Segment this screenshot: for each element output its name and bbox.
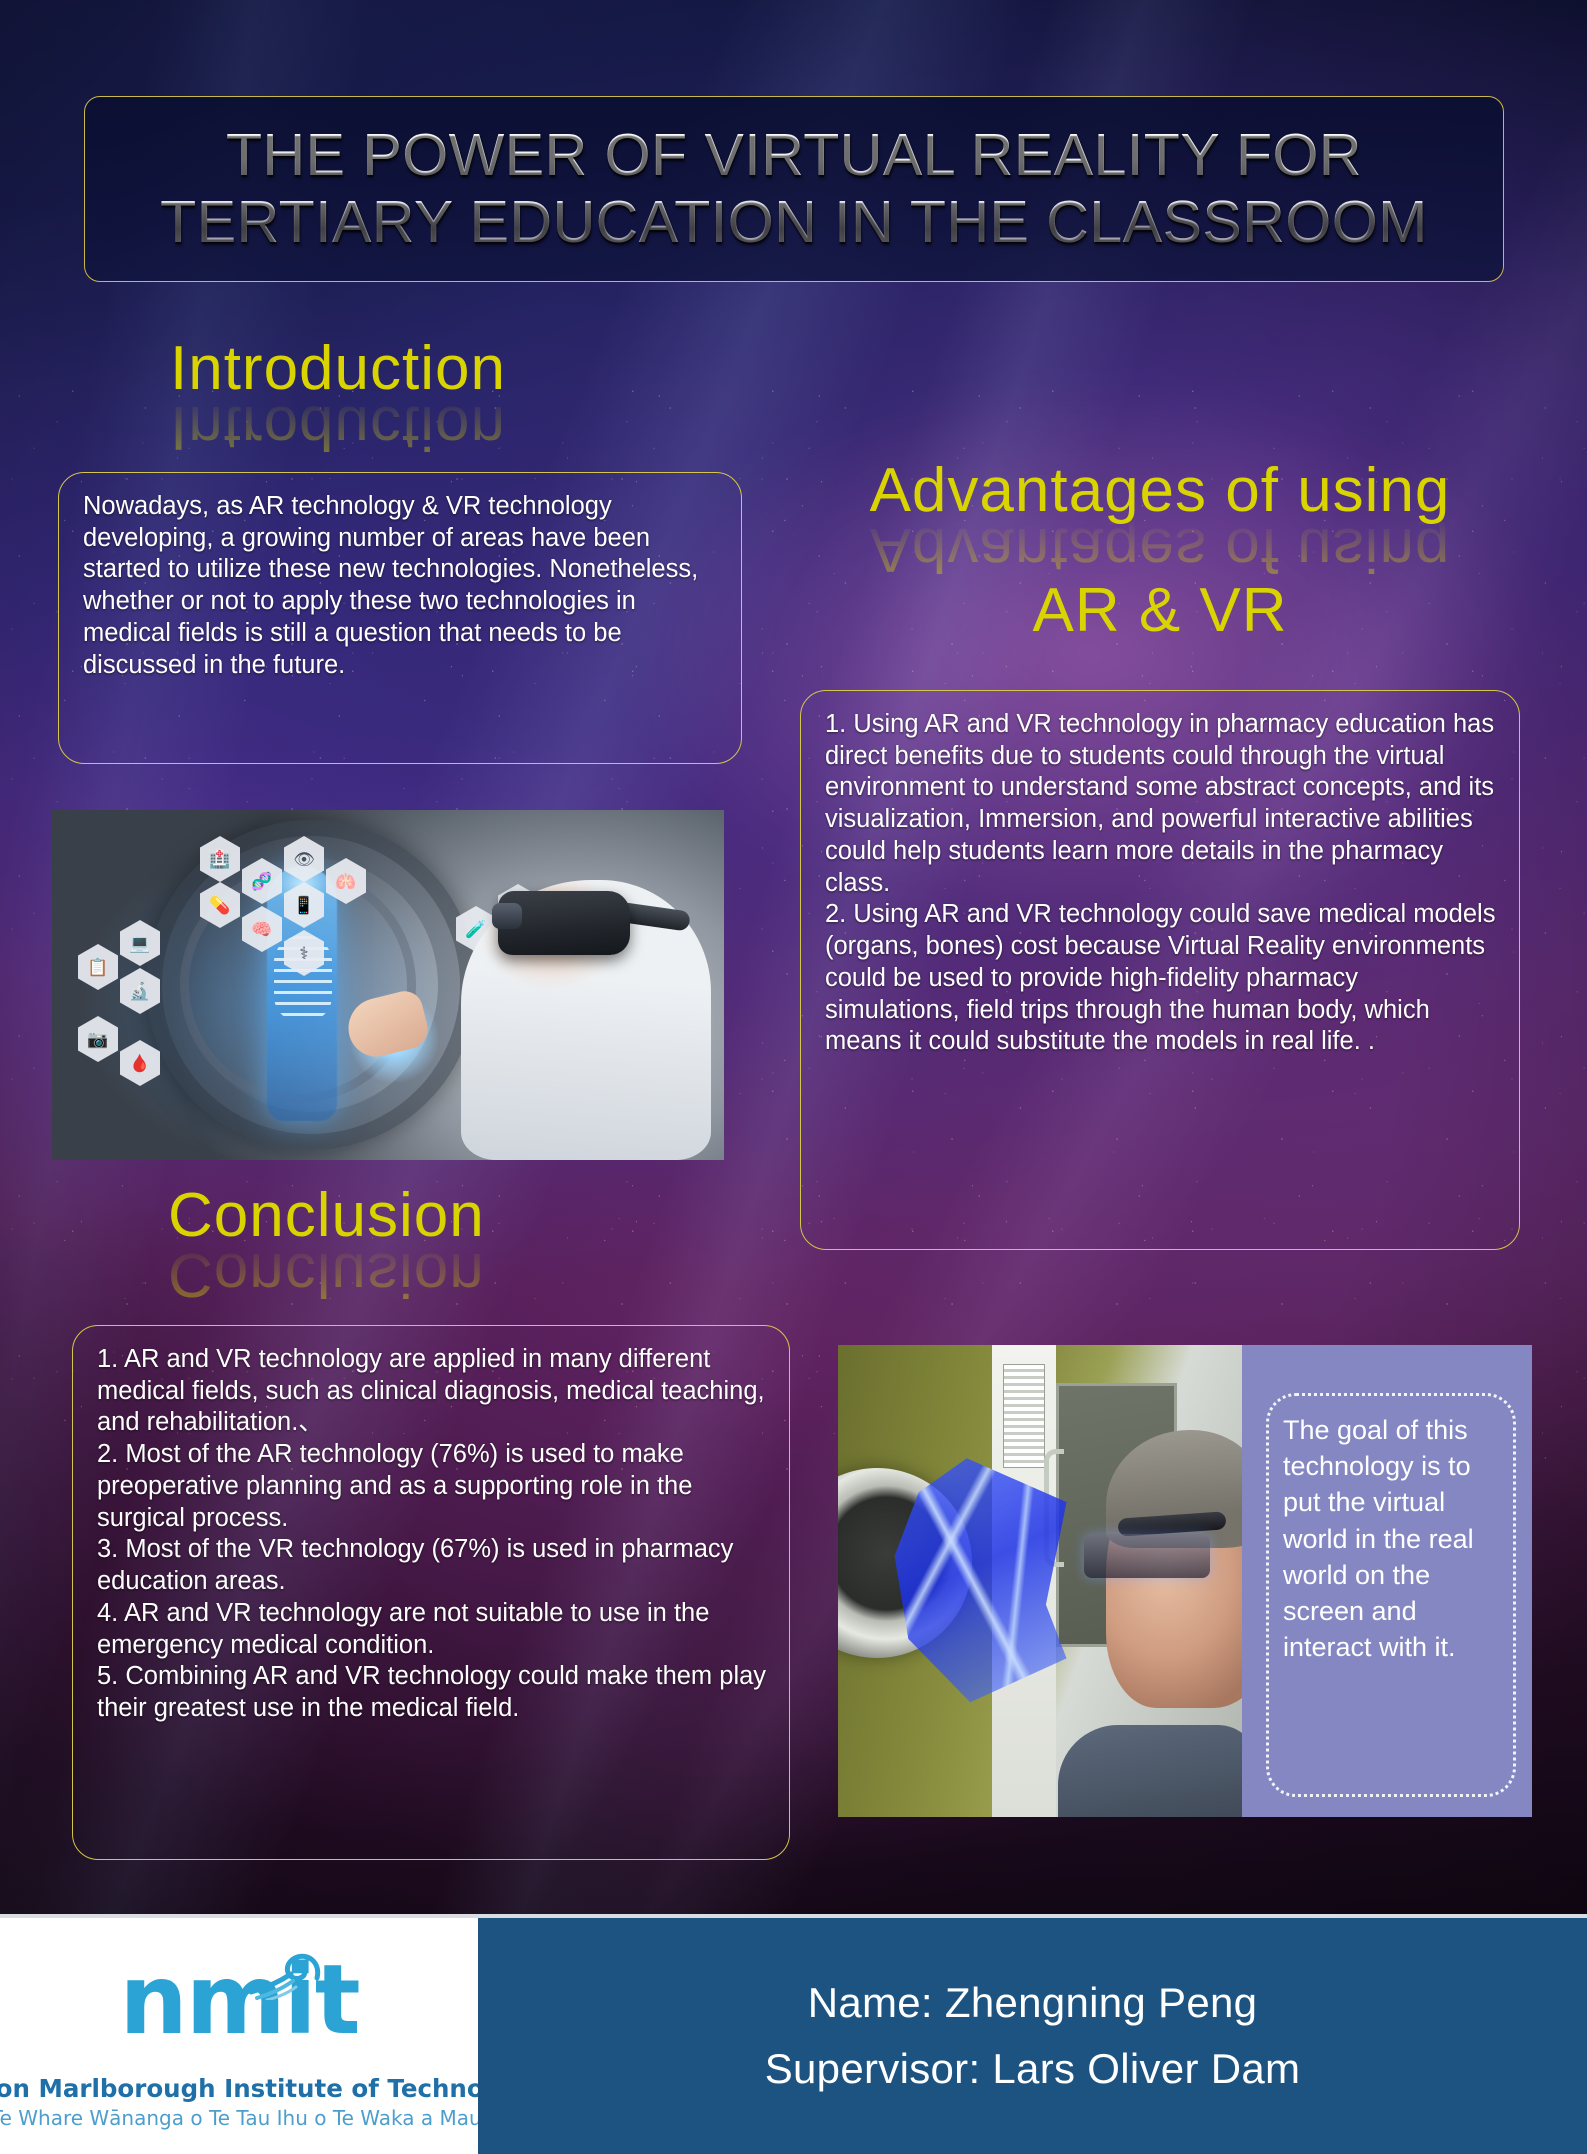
- goal-callout-panel: The goal of this technology is to put th…: [1242, 1345, 1532, 1817]
- poster-root: THE POWER OF VIRTUAL REALITY FOR TERTIAR…: [0, 0, 1587, 2154]
- machine-label-sticker: [1003, 1364, 1044, 1468]
- section-heading-advantages: Advantages of using Advantages of using …: [800, 460, 1520, 642]
- page-title: THE POWER OF VIRTUAL REALITY FOR TERTIAR…: [85, 122, 1503, 255]
- ar-glasses-icon: [1084, 1534, 1210, 1578]
- advantages-text-panel: 1. Using AR and VR technology in pharmac…: [800, 690, 1520, 1250]
- nmit-tagline-english: Nelson Marlborough Institute of Technolo…: [0, 2074, 542, 2103]
- section-heading-introduction: Introduction Introduction: [170, 338, 506, 458]
- poster-footer: nmit Nelson Marlborough Institute of Tec…: [0, 1918, 1587, 2154]
- author-name: Name: Zhengning Peng: [808, 1979, 1258, 2027]
- microscope-icon: 🔬: [120, 968, 160, 1014]
- nmit-wordmark: nmit: [59, 1952, 419, 2048]
- dna-icon: 🧬: [242, 858, 282, 904]
- nmit-wordmark-group: nmit: [59, 1952, 419, 2072]
- camera-icon: 📷: [78, 1016, 118, 1062]
- monitor-icon: 💻: [120, 920, 160, 966]
- advantages-heading-reflection: Advantages of using: [800, 518, 1520, 580]
- nmit-koru-swoosh-icon: [241, 1948, 327, 2000]
- nmit-logo: nmit Nelson Marlborough Institute of Tec…: [0, 1918, 478, 2154]
- conclusion-heading-text: Conclusion: [168, 1181, 485, 1250]
- image-ar-engineer: [838, 1345, 1242, 1817]
- poster-title-frame: THE POWER OF VIRTUAL REALITY FOR TERTIAR…: [84, 96, 1504, 282]
- blood-bag-icon: 🩸: [120, 1040, 160, 1086]
- vr-headset-icon: [498, 891, 630, 955]
- section-heading-conclusion: Conclusion Conclusion: [168, 1185, 485, 1305]
- supervisor-name: Supervisor: Lars Oliver Dam: [765, 2045, 1301, 2093]
- brain-icon: 🧠: [242, 906, 282, 952]
- eye-icon: 👁: [284, 836, 324, 882]
- conclusion-text-panel: 1. AR and VR technology are applied in m…: [72, 1325, 790, 1860]
- introduction-text-panel: Nowadays, as AR technology & VR technolo…: [58, 472, 742, 764]
- clipboard-icon: 📋: [78, 944, 118, 990]
- hospital-icon: 🏥: [200, 836, 240, 882]
- tablet-icon: 📱: [284, 882, 324, 928]
- goal-callout-text: The goal of this technology is to put th…: [1266, 1393, 1516, 1797]
- introduction-heading-reflection: Introduction: [170, 396, 506, 458]
- lungs-icon: 🫁: [326, 858, 366, 904]
- advantages-heading-line2: AR & VR: [800, 580, 1520, 642]
- engineer-shoulder: [1058, 1725, 1242, 1817]
- pills-icon: 💊: [200, 882, 240, 928]
- author-block: Name: Zhengning Peng Supervisor: Lars Ol…: [478, 1918, 1587, 2154]
- caduceus-icon: ⚕: [284, 930, 324, 976]
- conclusion-heading-reflection: Conclusion: [168, 1243, 485, 1305]
- image-vr-medical: 🏥 🧬 👁 🫁 💊 📱 🧠 ⚕ 💻 📋 🔬 📷 🩸 🧪 🌡 🩸 🩺 👪: [52, 810, 724, 1160]
- advantages-heading-line1: Advantages of using: [870, 456, 1451, 525]
- introduction-heading-text: Introduction: [170, 334, 506, 403]
- nmit-tagline-maori: Te Whare Wānanga o Te Tau Ihu o Te Waka …: [0, 2106, 487, 2130]
